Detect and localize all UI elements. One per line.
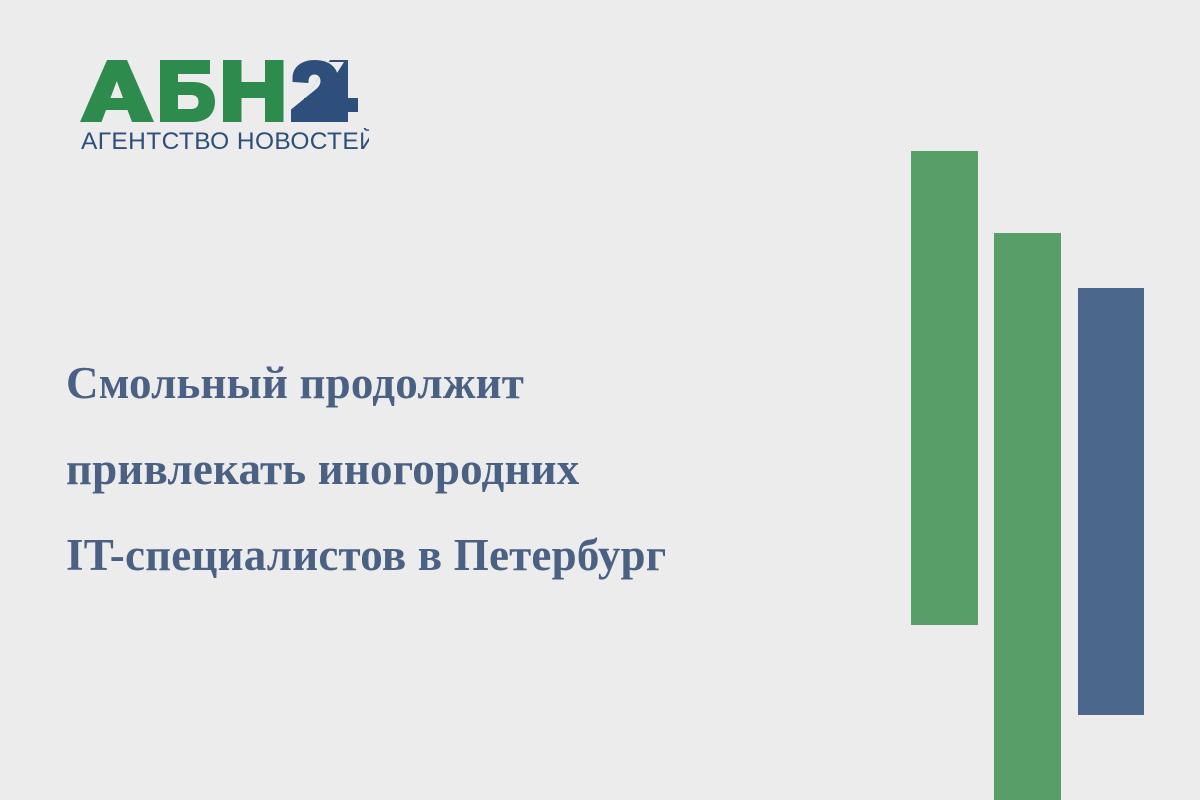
- chart-bar-2: [994, 233, 1061, 800]
- logo-tagline: АГЕНТСТВО НОВОСТЕЙ: [81, 128, 369, 154]
- logo-tagline-text: АГЕНТСТВО НОВОСТЕЙ: [81, 128, 369, 154]
- headline-line-3: IT-специалистов в Петербург: [66, 512, 866, 598]
- chart-bar-1: [911, 151, 978, 625]
- chart-bar-3: [1078, 288, 1144, 715]
- headline-line-1: Смольный продолжит: [66, 340, 866, 426]
- headline: Смольный продолжит привлекать иногородни…: [66, 340, 866, 598]
- news-card: АГЕНТСТВО НОВОСТЕЙ Смольный продолжит пр…: [0, 0, 1200, 800]
- abn24-logo[interactable]: АГЕНТСТВО НОВОСТЕЙ: [80, 60, 370, 165]
- headline-line-2: привлекать иногородних: [66, 426, 866, 512]
- logo-wordmark-icon: [80, 60, 358, 122]
